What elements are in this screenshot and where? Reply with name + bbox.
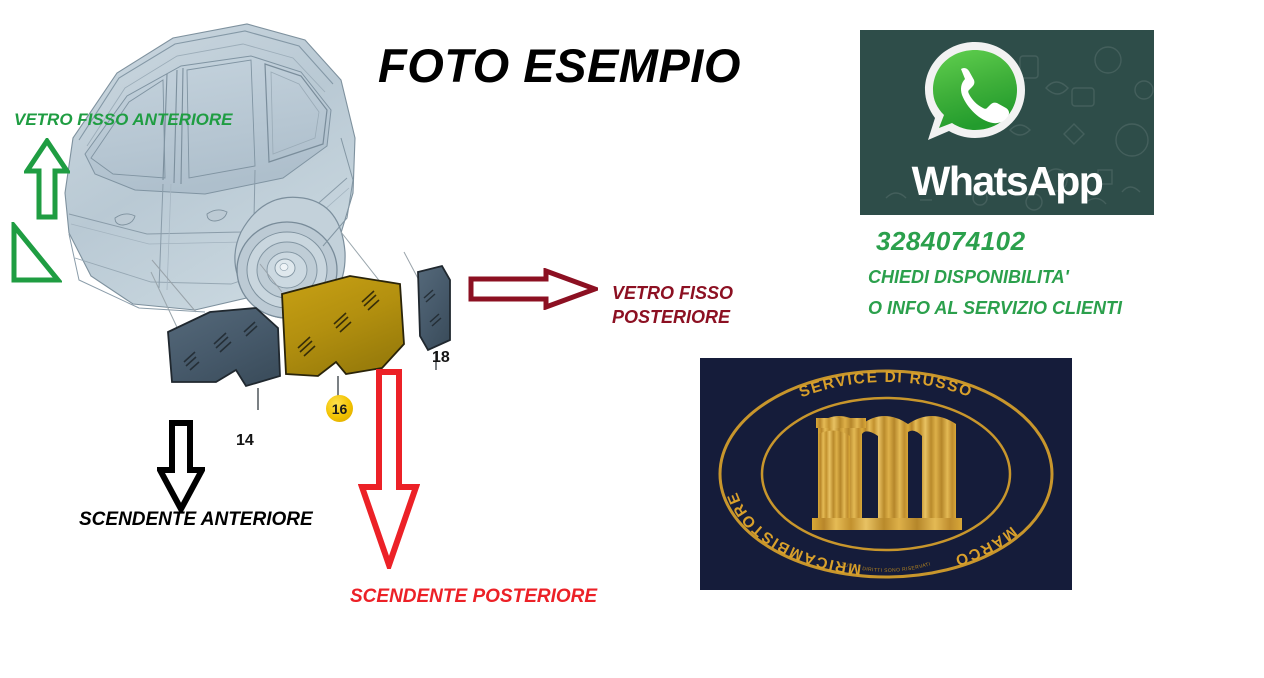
glass-parts-drawing: [150, 250, 480, 440]
shop-logo: SERVICE DI RUSSO MARCO MRICAMBISTORE: [700, 358, 1072, 590]
darkred-right-arrow-icon: [468, 268, 598, 310]
part-number-16-badge: 16: [326, 395, 353, 422]
shop-logo-monogram: [812, 416, 962, 530]
red-down-arrow-icon: [358, 369, 420, 569]
availability-text-line2: O INFO AL SERVIZIO CLIENTI: [868, 298, 1122, 319]
black-down-arrow-icon: [157, 420, 205, 512]
label-front-drop-glass: SCENDENTE ANTERIORE: [79, 509, 313, 531]
glass-part-18: [418, 266, 450, 350]
page-title: FOTO ESEMPIO: [378, 38, 741, 93]
glass-part-14: [168, 308, 280, 386]
shop-logo-emblem: SERVICE DI RUSSO MARCO MRICAMBISTORE: [700, 358, 1072, 590]
part-number-14: 14: [236, 432, 254, 450]
whatsapp-wordmark: WhatsApp: [860, 158, 1154, 205]
whatsapp-banner: WhatsApp: [860, 30, 1154, 215]
part-number-18: 18: [432, 349, 450, 367]
label-front-fixed-glass: VETRO FISSO ANTERIORE: [14, 110, 233, 130]
whatsapp-logo-icon: [920, 38, 1030, 150]
exploded-glass-parts: [150, 250, 480, 440]
shop-logo-ring-text-top: SERVICE DI RUSSO: [797, 369, 975, 401]
shop-logo-ring-text-left: MARCO: [952, 523, 1020, 569]
whatsapp-phone-number[interactable]: 3284074102: [876, 226, 1026, 257]
availability-text-line1: CHIEDI DISPONIBILITA': [868, 267, 1069, 288]
label-rear-fixed-glass-line2: POSTERIORE: [612, 305, 733, 329]
green-triangle-icon: [10, 222, 62, 284]
glass-part-16: [282, 276, 404, 376]
label-rear-fixed-glass-line1: VETRO FISSO: [612, 281, 733, 305]
label-rear-drop-glass: SCENDENTE POSTERIORE: [350, 586, 597, 608]
green-up-arrow-icon: [24, 138, 70, 220]
label-rear-fixed-glass: VETRO FISSO POSTERIORE: [612, 281, 733, 329]
poster-canvas: FOTO ESEMPIO: [0, 0, 1264, 678]
